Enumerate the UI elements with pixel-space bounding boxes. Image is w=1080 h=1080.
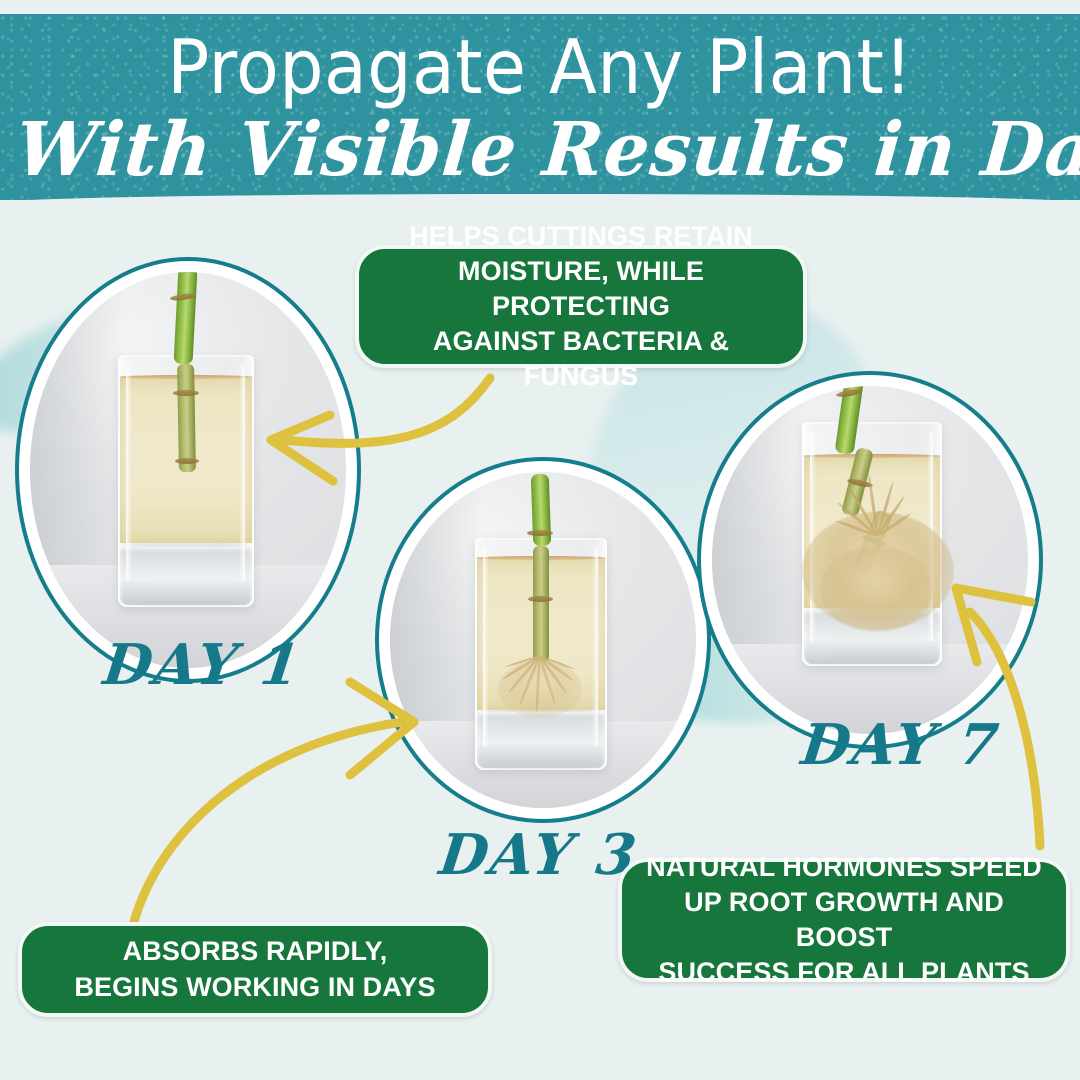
plant-stem-submerged-day-1 bbox=[177, 364, 196, 472]
callout-line: HELPS CUTTINGS RETAIN bbox=[375, 219, 787, 254]
glass-highlight-day-3-right bbox=[592, 547, 598, 747]
banner-top-edge bbox=[0, 14, 1080, 22]
page-title-line1: Propagate Any Plant! bbox=[38, 30, 1042, 105]
arrow-path-to-day-3 bbox=[133, 722, 402, 925]
root-mass-day-7-secondary bbox=[820, 546, 932, 632]
stem-node-day-3-upper bbox=[527, 530, 553, 536]
callout-line: SUCCESS FOR ALL PLANTS bbox=[638, 955, 1050, 990]
banner-bottom-edge bbox=[0, 194, 1080, 200]
callout-absorbs-rapidly: ABSORBS RAPIDLY, BEGINS WORKING IN DAYS bbox=[18, 922, 492, 1017]
callout-line: NATURAL HORMONES SPEED bbox=[638, 850, 1050, 885]
glass-highlight-day-1-right bbox=[239, 365, 245, 582]
glass-base-day-3 bbox=[477, 712, 605, 768]
plant-stem-day-1 bbox=[174, 272, 198, 364]
stem-node-day-1-mid bbox=[173, 390, 199, 396]
callout-line: UP ROOT GROWTH AND BOOST bbox=[638, 885, 1050, 955]
glass-highlight-day-3 bbox=[483, 547, 489, 747]
infographic-canvas: Propagate Any Plant! With Visible Result… bbox=[0, 0, 1080, 1080]
photo-day-7 bbox=[712, 386, 1028, 734]
glass-base-day-1 bbox=[120, 547, 252, 605]
stem-node-day-1-lower bbox=[175, 458, 199, 464]
day-label-3: DAY 3 bbox=[436, 822, 642, 888]
callout-line: BEGINS WORKING IN DAYS bbox=[74, 970, 435, 1005]
callout-text: HELPS CUTTINGS RETAIN MOISTURE, WHILE PR… bbox=[375, 219, 787, 394]
callout-text: NATURAL HORMONES SPEED UP ROOT GROWTH AN… bbox=[638, 850, 1050, 990]
root-mass-day-3 bbox=[498, 660, 582, 718]
callout-line: MOISTURE, WHILE PROTECTING bbox=[375, 254, 787, 324]
callout-line: ABSORBS RAPIDLY, bbox=[74, 934, 435, 969]
photo-circle-day-7 bbox=[712, 386, 1028, 734]
plant-stem-submerged-day-3 bbox=[533, 546, 549, 662]
glass-highlight-day-1 bbox=[126, 365, 132, 582]
day-label-1: DAY 1 bbox=[100, 632, 306, 698]
photo-circle-day-1 bbox=[30, 272, 346, 668]
page-title-line2: With Visible Results in Days bbox=[13, 113, 1067, 187]
photo-day-1 bbox=[30, 272, 346, 668]
callout-text: ABSORBS RAPIDLY, BEGINS WORKING IN DAYS bbox=[74, 934, 435, 1004]
photo-day-3 bbox=[390, 472, 696, 808]
callout-helps-cuttings-retain-moisture: HELPS CUTTINGS RETAIN MOISTURE, WHILE PR… bbox=[355, 245, 807, 368]
stem-node-day-3-mid bbox=[528, 596, 553, 602]
day-label-7: DAY 7 bbox=[798, 712, 1004, 778]
callout-line: AGAINST BACTERIA & FUNGUS bbox=[375, 324, 787, 394]
photo-circle-day-3 bbox=[390, 472, 696, 808]
header-banner: Propagate Any Plant! With Visible Result… bbox=[0, 14, 1080, 200]
callout-natural-hormones: NATURAL HORMONES SPEED UP ROOT GROWTH AN… bbox=[618, 858, 1070, 982]
